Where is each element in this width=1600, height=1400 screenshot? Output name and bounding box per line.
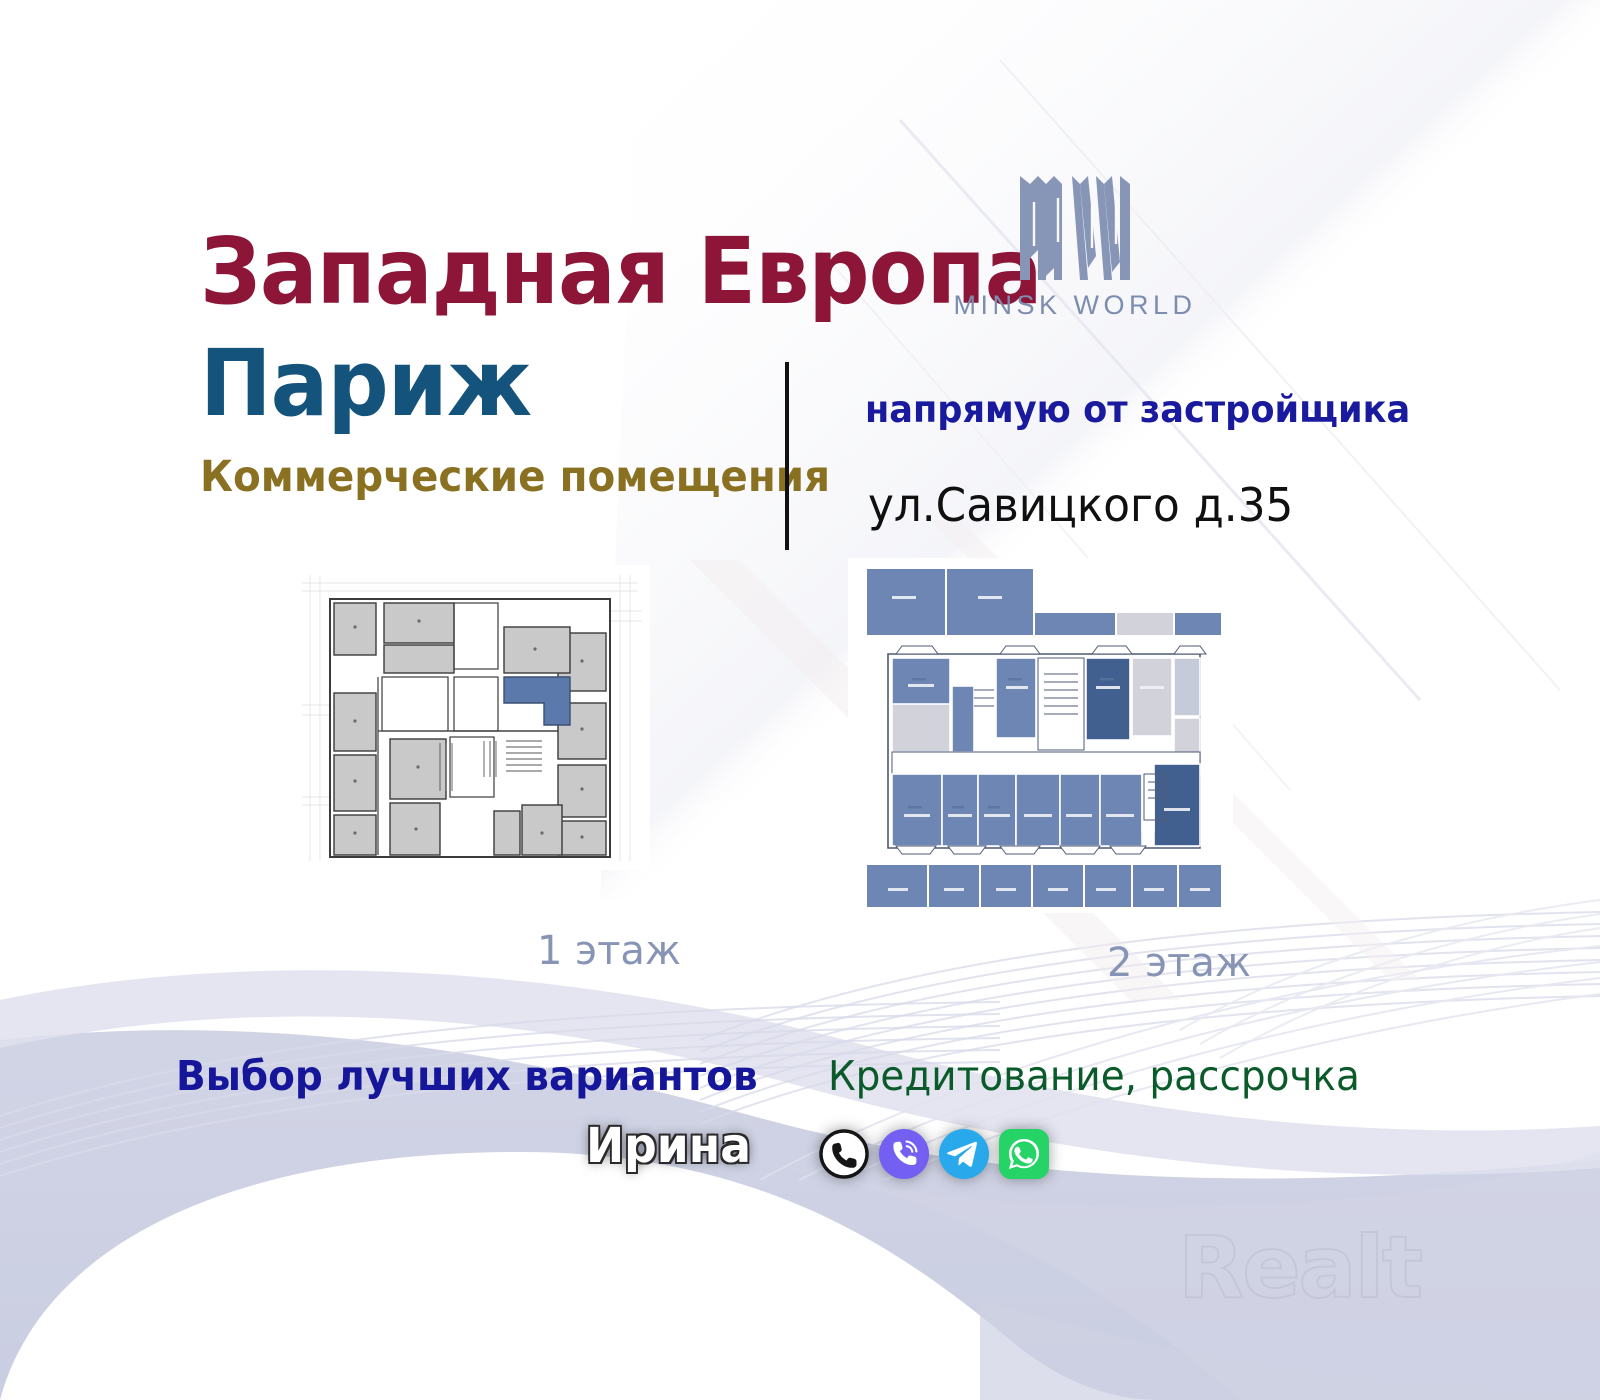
property-type-label: Коммерческие помещения bbox=[200, 452, 858, 502]
agent-name: Ирина bbox=[586, 1118, 751, 1174]
vertical-divider bbox=[785, 362, 789, 550]
minsk-world-logo: MINSK WORLD bbox=[925, 172, 1225, 321]
messenger-icons[interactable] bbox=[818, 1128, 1050, 1180]
advertisement-banner: Западная Европа Париж Коммерческие помещ… bbox=[0, 0, 1600, 1400]
benefit-financing: Кредитование, рассрочка bbox=[828, 1052, 1360, 1100]
plan-floor-2[interactable] bbox=[848, 558, 1233, 913]
floor-2-label: 2 этаж bbox=[1107, 940, 1251, 986]
plan-floor-1[interactable] bbox=[290, 565, 650, 870]
mw-monogram-icon bbox=[1000, 172, 1150, 284]
realt-watermark: Realt bbox=[1178, 1218, 1421, 1318]
floor-1-label: 1 этаж bbox=[537, 928, 681, 974]
page-subtitle: Париж bbox=[200, 338, 851, 430]
page-title: Западная Европа bbox=[200, 228, 851, 316]
benefit-best-options: Выбор лучших вариантов bbox=[176, 1052, 758, 1100]
telegram-icon[interactable] bbox=[938, 1128, 990, 1180]
whatsapp-icon[interactable] bbox=[998, 1128, 1050, 1180]
developer-direct-label: напрямую от застройщика bbox=[865, 388, 1410, 431]
phone-icon[interactable] bbox=[818, 1128, 870, 1180]
headline-block: Западная Европа Париж Коммерческие помещ… bbox=[200, 228, 900, 502]
background-decoration bbox=[0, 0, 1600, 1400]
address-label: ул.Савицкого д.35 bbox=[868, 478, 1293, 532]
viber-icon[interactable] bbox=[878, 1128, 930, 1180]
logo-wordmark: MINSK WORLD bbox=[925, 290, 1225, 321]
